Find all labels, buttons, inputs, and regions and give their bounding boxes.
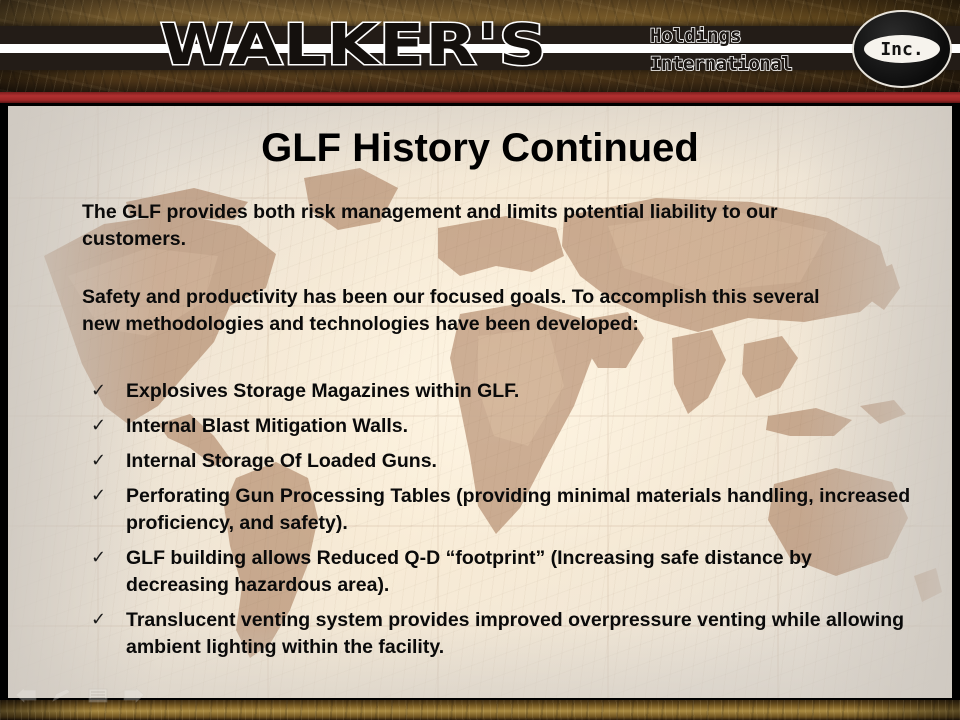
tagline-line-2: International (650, 50, 850, 78)
list-item-label: Translucent venting system provides impr… (126, 607, 912, 661)
pen-tool-icon[interactable] (50, 688, 74, 703)
footer-wood-texture (0, 700, 960, 720)
presentation-slide: WALKER'S Holdings International Inc. (0, 0, 960, 720)
intro-paragraph-1: The GLF provides both risk management an… (82, 199, 872, 253)
inc-badge-oval: Inc. (864, 35, 940, 63)
footer-wood-strip (0, 700, 960, 720)
list-item-label: Internal Storage Of Loaded Guns. (126, 448, 912, 475)
list-item: ✓ Translucent venting system provides im… (82, 607, 912, 661)
list-item: ✓ Perforating Gun Processing Tables (pro… (82, 483, 912, 537)
list-item: ✓ GLF building allows Reduced Q-D “footp… (82, 545, 912, 599)
checkmark-icon: ✓ (91, 447, 106, 474)
list-item-label: Explosives Storage Magazines within GLF. (126, 378, 912, 405)
presenter-nav-controls[interactable] (14, 688, 146, 703)
list-item: ✓ Explosives Storage Magazines within GL… (82, 378, 912, 405)
slide-content: GLF History Continued The GLF provides b… (8, 106, 952, 698)
tagline-line-1: Holdings (650, 22, 850, 50)
inc-badge-label: Inc. (880, 39, 923, 60)
previous-slide-icon[interactable] (14, 688, 38, 703)
checkmark-icon: ✓ (91, 482, 106, 509)
checklist: ✓ Explosives Storage Magazines within GL… (82, 378, 912, 669)
checkmark-icon: ✓ (91, 544, 106, 571)
page-title: GLF History Continued (8, 125, 952, 171)
intro-paragraph-2: Safety and productivity has been our foc… (82, 284, 842, 338)
list-item-label: Internal Blast Mitigation Walls. (126, 413, 912, 440)
list-item-label: GLF building allows Reduced Q-D “footpri… (126, 545, 912, 599)
company-wordmark: WALKER'S (160, 16, 548, 76)
list-item-label: Perforating Gun Processing Tables (provi… (126, 483, 912, 537)
list-item: ✓ Internal Storage Of Loaded Guns. (82, 448, 912, 475)
list-item: ✓ Internal Blast Mitigation Walls. (82, 413, 912, 440)
company-tagline: Holdings International (650, 22, 850, 78)
checkmark-icon: ✓ (91, 412, 106, 439)
next-slide-icon[interactable] (122, 688, 146, 703)
header-banner: WALKER'S Holdings International Inc. (0, 0, 960, 92)
red-divider-rule (0, 92, 960, 103)
slide-body: GLF History Continued The GLF provides b… (8, 106, 952, 698)
slide-menu-icon[interactable] (86, 688, 110, 703)
inc-badge-circle: Inc. (852, 10, 952, 88)
checkmark-icon: ✓ (91, 377, 106, 404)
checkmark-icon: ✓ (91, 606, 106, 633)
